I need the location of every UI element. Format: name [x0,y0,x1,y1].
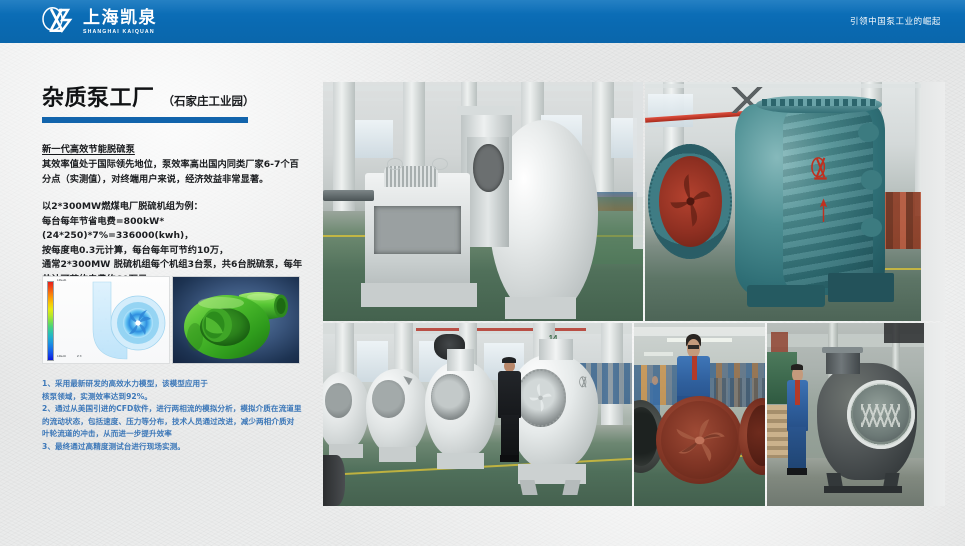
grey-pump-assembly-photo [323,82,643,321]
body-copy: 新一代高效节能脱硫泵 其效率值处于国际领先地位，泵效率高出国内同类厂家6-7个百… [42,141,314,287]
page-header: 上海凯泉 SHANGHAI KAIQUAN 引领中国泵工业的崛起 [0,0,965,43]
grey-pump-row-photo: 14 [323,323,632,506]
rotation-arrow-decal-icon [816,197,831,223]
worker-torso [498,371,521,419]
note-line-5: 3、最终通过高精度测试台进行现场实测。 [42,441,330,454]
photo-grid: 14 [323,82,945,506]
kq-logo-decal-icon [807,154,834,185]
brand-logo[interactable]: 上海凯泉 SHANGHAI KAIQUAN [40,6,157,37]
section2-line-3: 通常2*300MW 脱硫机组每个机组3台泵，共6台脱硫泵，每年 [42,258,314,273]
section2-line-0: 以2*300MW燃煤电厂脱硫机组为例： [42,200,314,215]
blue-slurry-pump-photo [645,82,945,321]
note-line-4: 叶轮流道的冲击，从而进一步提升效率 [42,428,330,441]
cfd-contour-figure: 1.03e+01 1.00e-04 [42,276,170,364]
kaiquan-kq-monogram-icon [40,6,76,37]
note-line-3: 的流动状态，包括速度、压力等分布，技术人员通过改进，减少两相介质对 [42,416,330,429]
page-subtitle: （石家庄工业园） [163,93,255,109]
section1-line-1: 分点（实测值），对终端用户来说，经济效益非常显著。 [42,173,314,188]
technical-notes: 1、采用最新研发的高效水力模型，该模型应用于 核泵领域，实测效率达到92%。 2… [42,378,330,454]
brand-name-cn: 上海凯泉 [83,10,157,27]
raw-casing-photo [767,323,945,506]
section1-line-0: 其效率值处于国际领先地位，泵效率高出国内同类厂家6-7个百 [42,158,314,173]
title-underline-rule [42,117,248,123]
page-title-row: 杂质泵工厂 （石家庄工业园） [42,80,314,112]
section2-block: 以2*300MW燃煤电厂脱硫机组为例： 每台每年节省电费=800kW*(24*2… [42,200,314,287]
colorbar-top-label: 1.03e+01 [57,279,66,282]
figure-pair: 1.03e+01 1.00e-04 [42,276,300,364]
note-line-1: 核泵领域，实测效率达到92%。 [42,391,330,404]
cfd-axis-label: Z X [77,354,82,358]
red-impeller-vanes-icon [661,401,738,480]
kq-logo-casing-icon [576,374,591,392]
section2-line-1: 每台每年节省电费=800kW*(24*250)*7%=336000(kwh)， [42,215,314,244]
section2-line-2: 按每度电0.3元计算，每台每年可节约10万， [42,244,314,259]
colorbar-bottom-label: 1.00e-04 [57,355,66,358]
volute-3d-model [173,277,300,364]
section-heading: 新一代高效节能脱硫泵 [42,141,314,155]
note-line-2: 2、通过从美国引进的CFD软件，进行两相流的模拟分析，模拟介质在流道里 [42,403,330,416]
pump-impeller-icon [522,375,559,421]
red-impellers-photo [634,323,765,506]
cfd-volute-contour [75,279,169,363]
page-title: 杂质泵工厂 [42,80,155,112]
header-tagline: 引领中国泵工业的崛起 [850,15,941,27]
slide-canvas: 上海凯泉 SHANGHAI KAIQUAN 引领中国泵工业的崛起 杂质泵工厂 （… [0,0,965,546]
left-content-column: 杂质泵工厂 （石家庄工业园） 新一代高效节能脱硫泵 其效率值处于国际领先地位，泵… [42,80,314,287]
cfd-colorbar [47,281,54,361]
note-line-0: 1、采用最新研发的高效水力模型，该模型应用于 [42,378,330,391]
volute-3d-figure [172,276,300,364]
brand-name-en: SHANGHAI KAIQUAN [83,30,157,35]
